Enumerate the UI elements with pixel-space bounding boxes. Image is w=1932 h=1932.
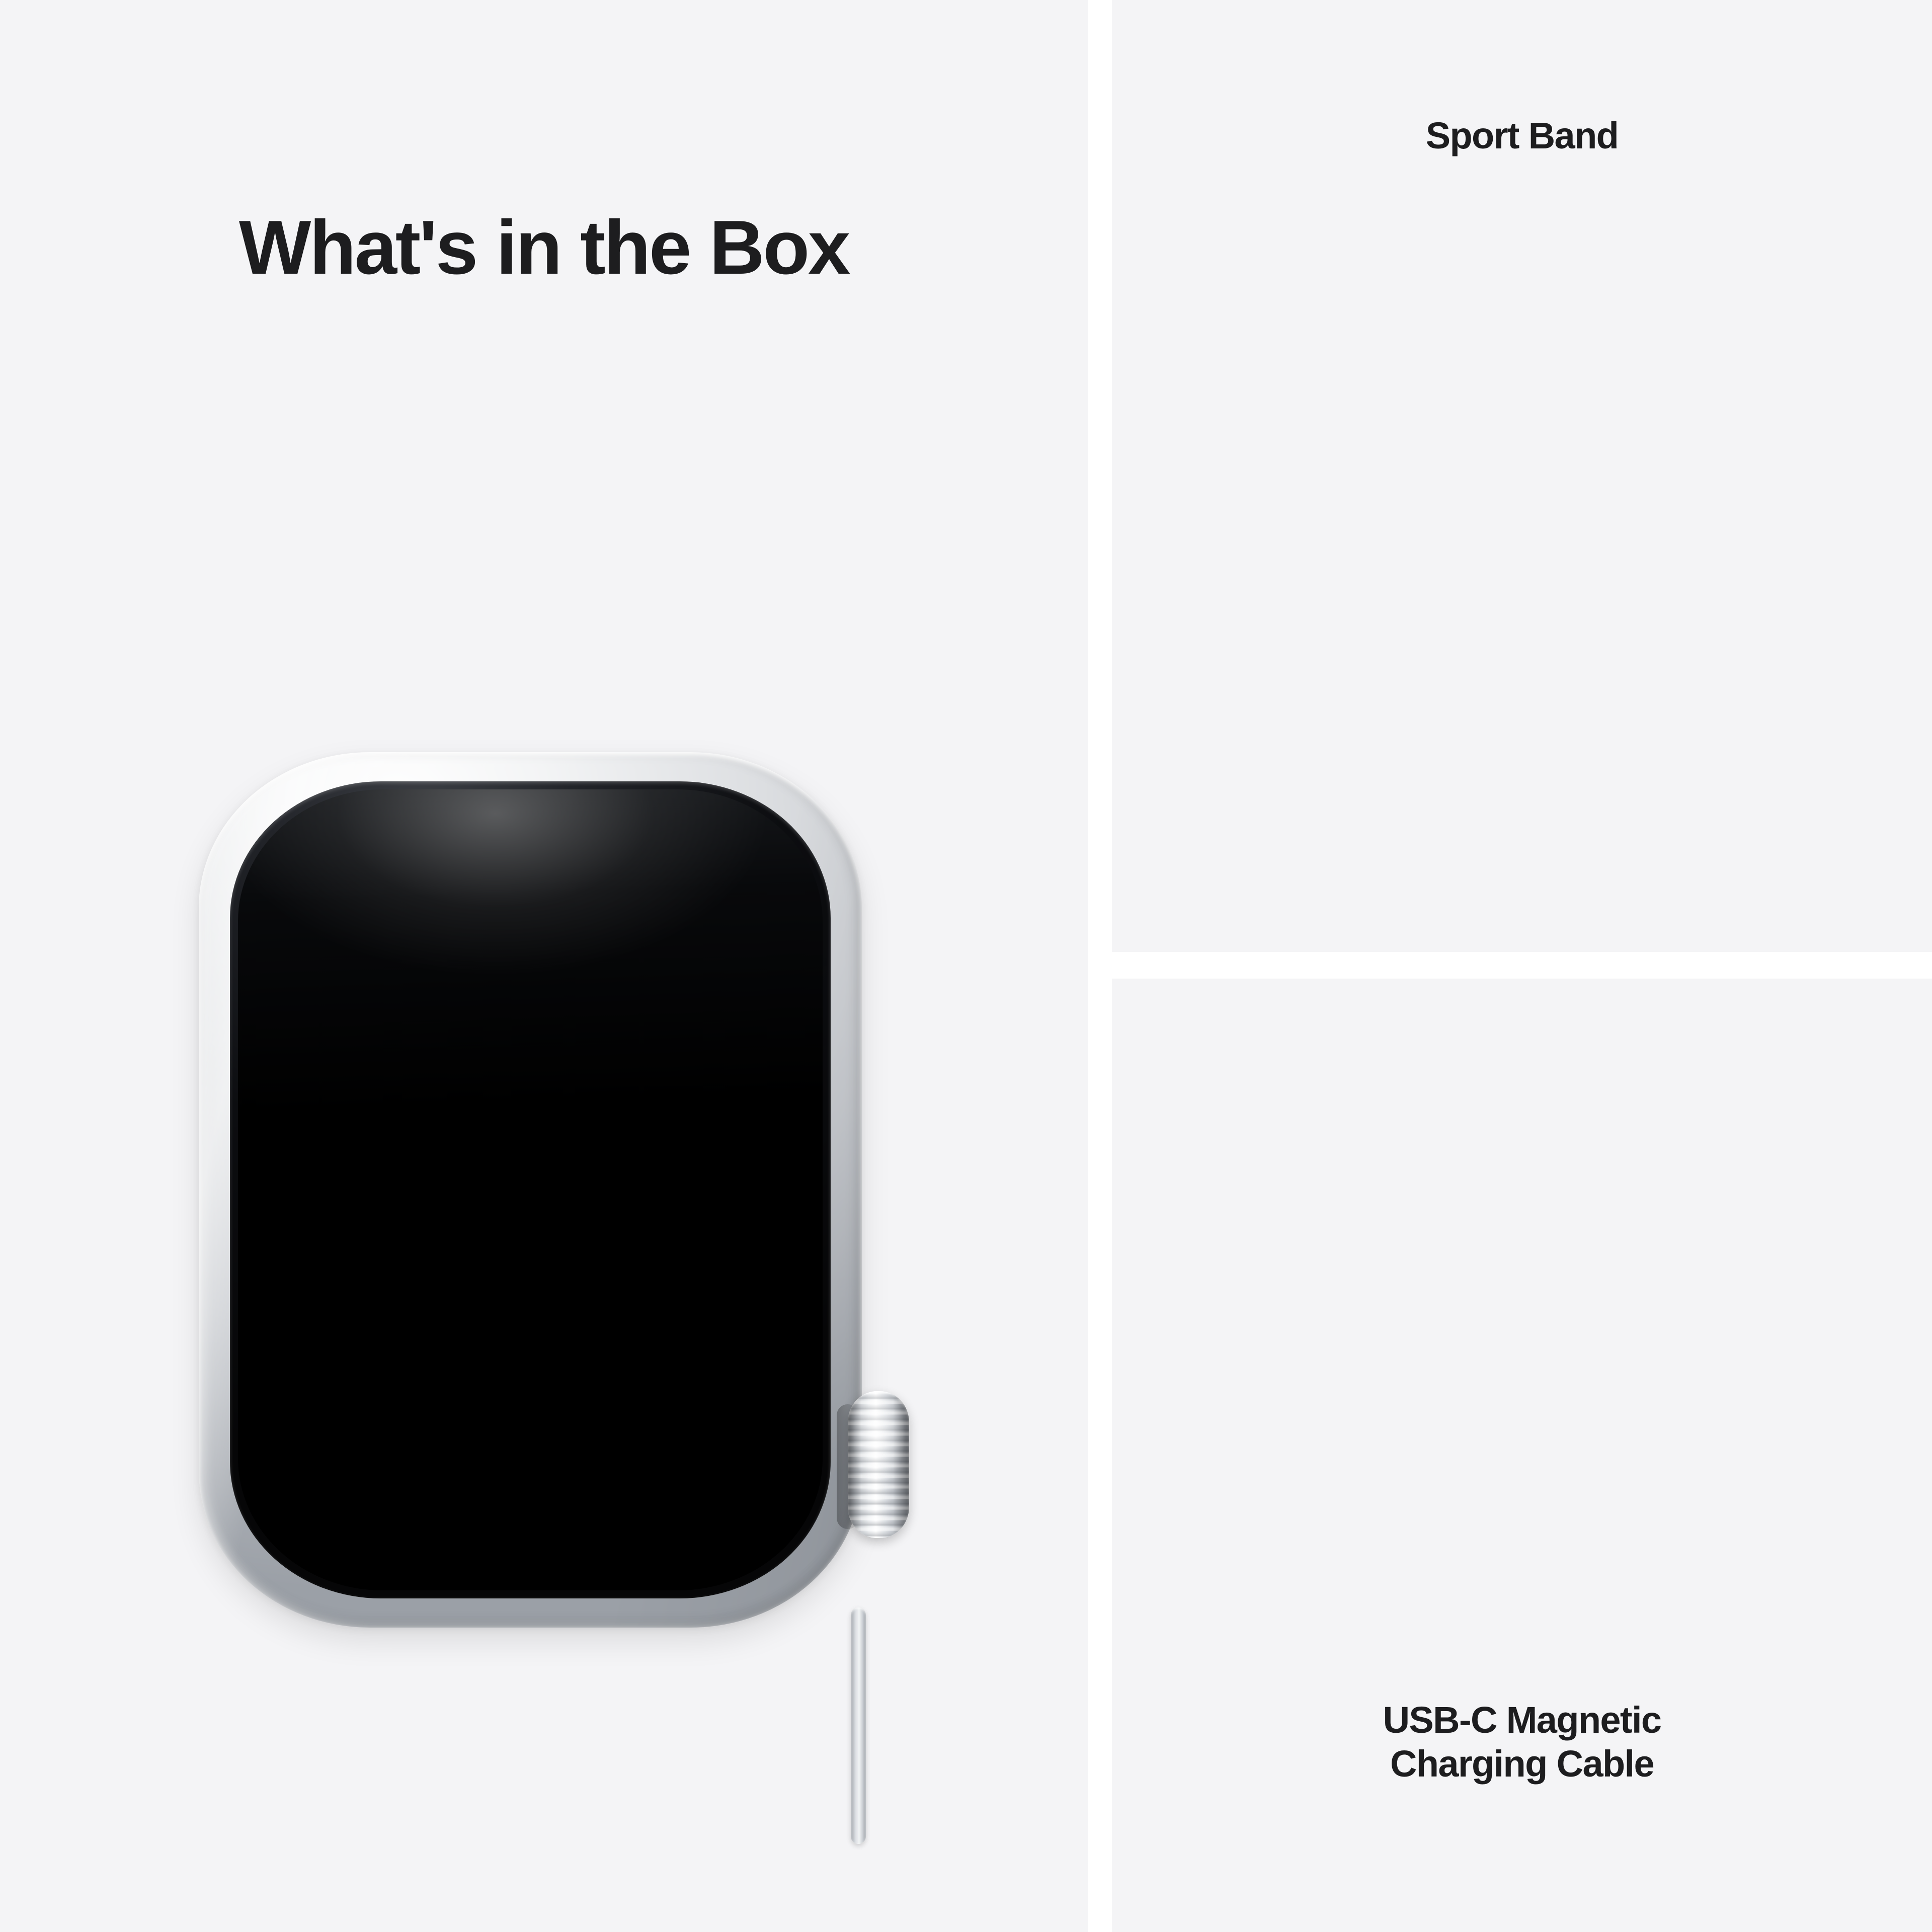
charging-cable-label-line-1: USB-C Magnetic (1383, 1699, 1661, 1741)
sport-band-label: Sport Band (1112, 116, 1932, 156)
charging-cable-label: USB-C MagneticCharging Cable (1112, 1698, 1932, 1786)
watch-display-screen (238, 789, 823, 1590)
apple-watch-illustration (199, 752, 913, 1633)
charging-cable-panel (1112, 979, 1932, 1932)
page-title: What's in the Box (0, 206, 1088, 289)
charging-cable-label-line-2: Charging Cable (1390, 1743, 1654, 1785)
whats-in-the-box-panel: What's in the Box (0, 0, 1088, 1932)
side-button-icon[interactable] (851, 1607, 866, 1844)
digital-crown-shading (848, 1391, 909, 1538)
digital-crown-icon[interactable] (848, 1391, 909, 1538)
